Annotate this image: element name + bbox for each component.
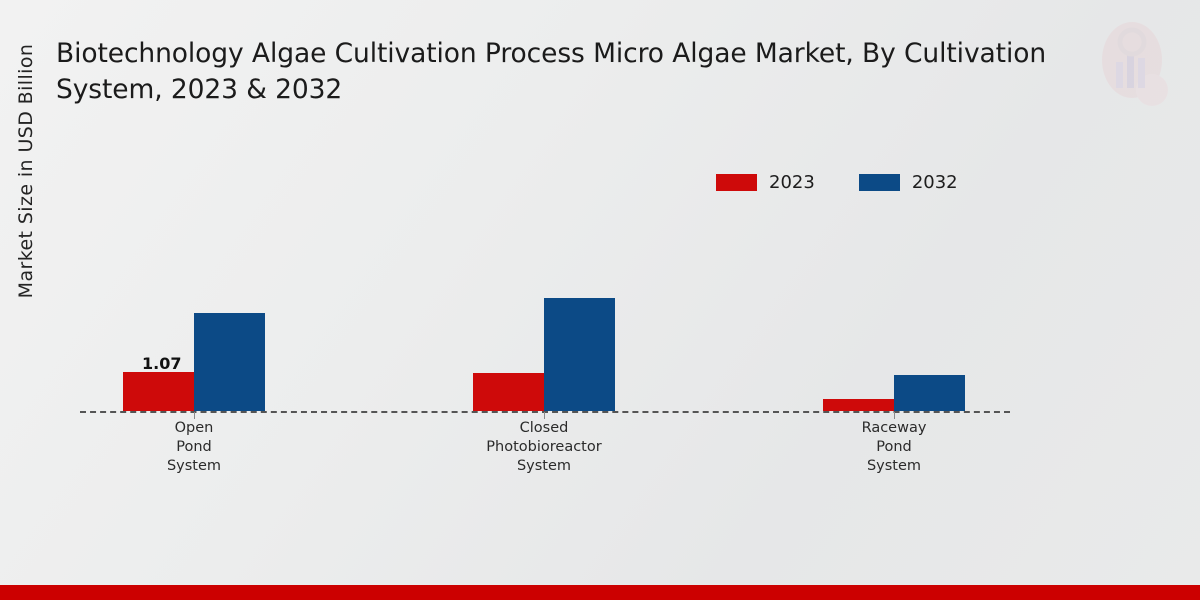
x-label-open-pond-system: Open Pond System xyxy=(74,419,314,476)
footer-accent-band xyxy=(0,585,1200,600)
x-tick-closed-photobioreactor-system xyxy=(544,412,545,419)
bar-2023-closed-photobioreactor-system[interactable] xyxy=(473,373,544,411)
chart-canvas: Biotechnology Algae Cultivation Process … xyxy=(0,0,1200,600)
bar-2032-closed-photobioreactor-system[interactable] xyxy=(544,298,615,411)
x-label-raceway-pond-system: Raceway Pond System xyxy=(774,419,1014,476)
bar-2032-raceway-pond-system[interactable] xyxy=(894,375,965,411)
x-tick-raceway-pond-system xyxy=(894,412,895,419)
x-tick-open-pond-system xyxy=(194,412,195,419)
x-axis-baseline xyxy=(80,411,1010,413)
bar-value-2023-open-pond-system: 1.07 xyxy=(142,354,181,373)
bar-2032-open-pond-system[interactable] xyxy=(194,313,265,411)
x-label-closed-photobioreactor-system: Closed Photobioreactor System xyxy=(424,419,664,476)
plot-area: 1.07 Open Pond System Closed Photobiorea… xyxy=(0,0,1200,600)
bar-2023-raceway-pond-system[interactable] xyxy=(823,399,894,411)
bar-2023-open-pond-system[interactable] xyxy=(123,372,194,411)
